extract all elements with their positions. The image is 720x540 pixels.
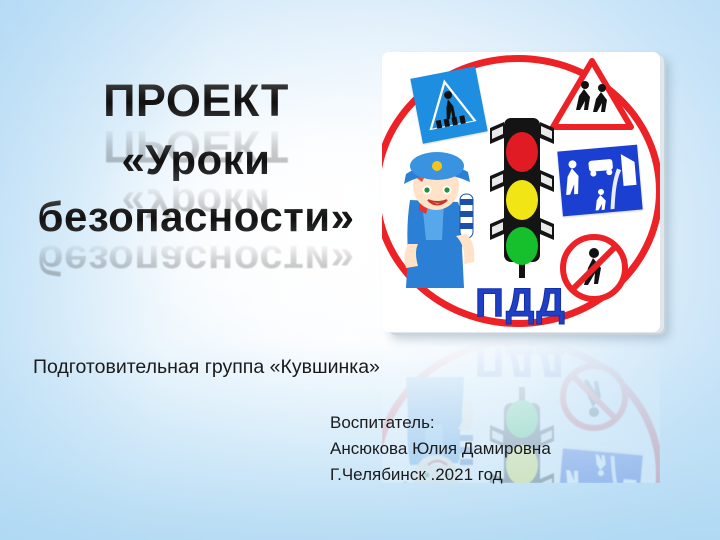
illustration-card: ПДД: [382, 52, 660, 332]
credits-name: Ансюкова Юлия Дамировна: [330, 436, 551, 462]
traffic-officer-boy-icon: [392, 140, 494, 290]
title-line-3-reflection: безопасности»: [0, 239, 392, 281]
traffic-light-icon: [486, 114, 558, 280]
illustration-road-safety: ПДД: [382, 52, 670, 337]
group-line: Подготовительная группа «Кувшинка»: [33, 356, 380, 379]
title-line-1: ПРОЕКТ: [0, 78, 392, 123]
children-warning-sign-icon: [550, 58, 634, 130]
credits-block: Воспитатель: Ансюкова Юлия Дамировна Г.Ч…: [330, 410, 551, 487]
pdd-caption: ПДД: [382, 281, 660, 326]
residential-zone-sign-icon: [557, 145, 642, 217]
credits-place-year: Г.Челябинск .2021 год: [330, 462, 551, 488]
pedestrian-crossing-sign-icon: [410, 66, 487, 143]
title-line-2: «Уроки: [0, 139, 392, 181]
title-line-3: безопасности»: [0, 196, 392, 238]
slide-title: ПРОЕКТ ПРОЕКТ «Уроки «Уроки безопасности…: [0, 78, 392, 238]
presentation-slide: ПДД ПРОЕКТ ПРОЕКТ «Уроки «Уроки безопасн…: [0, 0, 720, 540]
credits-role: Воспитатель:: [330, 410, 551, 436]
